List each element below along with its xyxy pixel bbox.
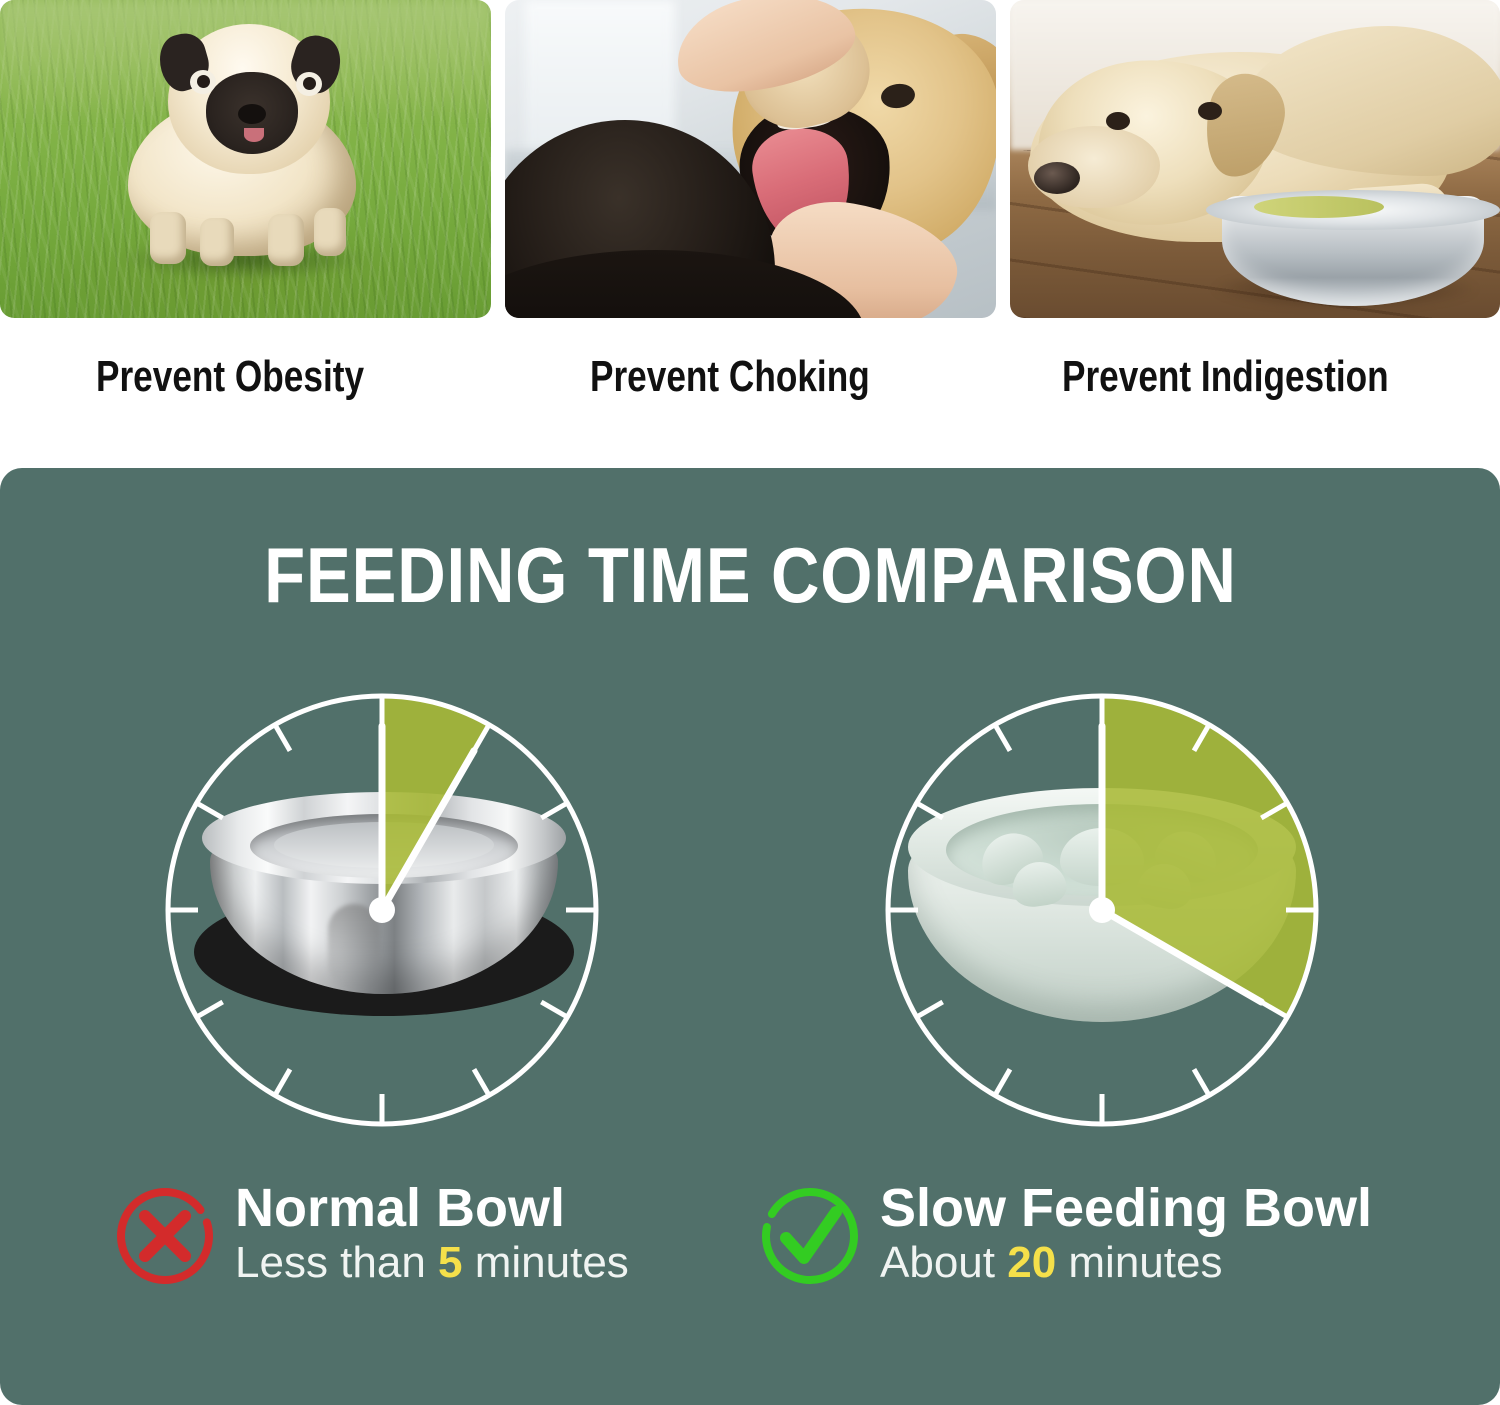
labrador-eye xyxy=(1106,112,1130,130)
clock-center-hub xyxy=(369,897,395,923)
result-title-normal-bowl: Normal Bowl xyxy=(235,1180,629,1237)
result-minutes-value: 5 xyxy=(438,1238,462,1287)
pug-leg xyxy=(314,208,346,256)
slow-feeding-bowl-clock-dial xyxy=(872,680,1332,1140)
normal-bowl-clock-dial xyxy=(152,680,612,1140)
clock-center-hub xyxy=(1089,897,1115,923)
caption-prevent-obesity: Prevent Obesity xyxy=(96,352,364,402)
result-subtitle-normal-bowl: Less than 5 minutes xyxy=(235,1239,629,1287)
circled-check-icon xyxy=(758,1184,862,1288)
pug-nose xyxy=(238,104,266,124)
benefits-photo-strip xyxy=(0,0,1500,320)
result-sub-suffix: minutes xyxy=(1056,1238,1222,1287)
pug-eye xyxy=(190,70,216,94)
result-sub-prefix: Less than xyxy=(235,1238,438,1287)
result-title-slow-feeding-bowl: Slow Feeding Bowl xyxy=(880,1180,1372,1237)
normal-bowl-clock xyxy=(152,680,612,1140)
result-sub-prefix: About xyxy=(880,1238,1007,1287)
pug-leg xyxy=(200,218,234,266)
result-sub-suffix: minutes xyxy=(463,1238,629,1287)
pug-eye xyxy=(296,72,322,96)
page-title-text: FEEDING TIME COMPARISON xyxy=(264,530,1237,621)
bowl-food xyxy=(1254,196,1384,218)
labrador-nose xyxy=(1034,162,1080,194)
circled-x-icon xyxy=(113,1184,217,1288)
result-subtitle-slow-feeding-bowl: About 20 minutes xyxy=(880,1239,1372,1287)
benefit-photo-prevent-indigestion xyxy=(1010,0,1500,318)
caption-prevent-choking: Prevent Choking xyxy=(590,352,870,402)
result-minutes-value: 20 xyxy=(1007,1238,1056,1287)
pug-tongue xyxy=(244,128,264,142)
caption-prevent-indigestion: Prevent Indigestion xyxy=(1062,352,1389,402)
benefit-photo-prevent-choking xyxy=(505,0,996,318)
pug-leg xyxy=(268,214,304,266)
feeding-time-comparison-panel: FEEDING TIME COMPARISON xyxy=(0,468,1500,1405)
page-title: FEEDING TIME COMPARISON xyxy=(0,530,1500,621)
benefit-photo-prevent-obesity xyxy=(0,0,491,318)
pug-leg xyxy=(150,212,186,264)
benefit-captions: Prevent Obesity Prevent Choking Prevent … xyxy=(0,326,1500,426)
labrador-eye xyxy=(1198,102,1222,120)
slow-feeding-bowl-clock xyxy=(872,680,1332,1140)
